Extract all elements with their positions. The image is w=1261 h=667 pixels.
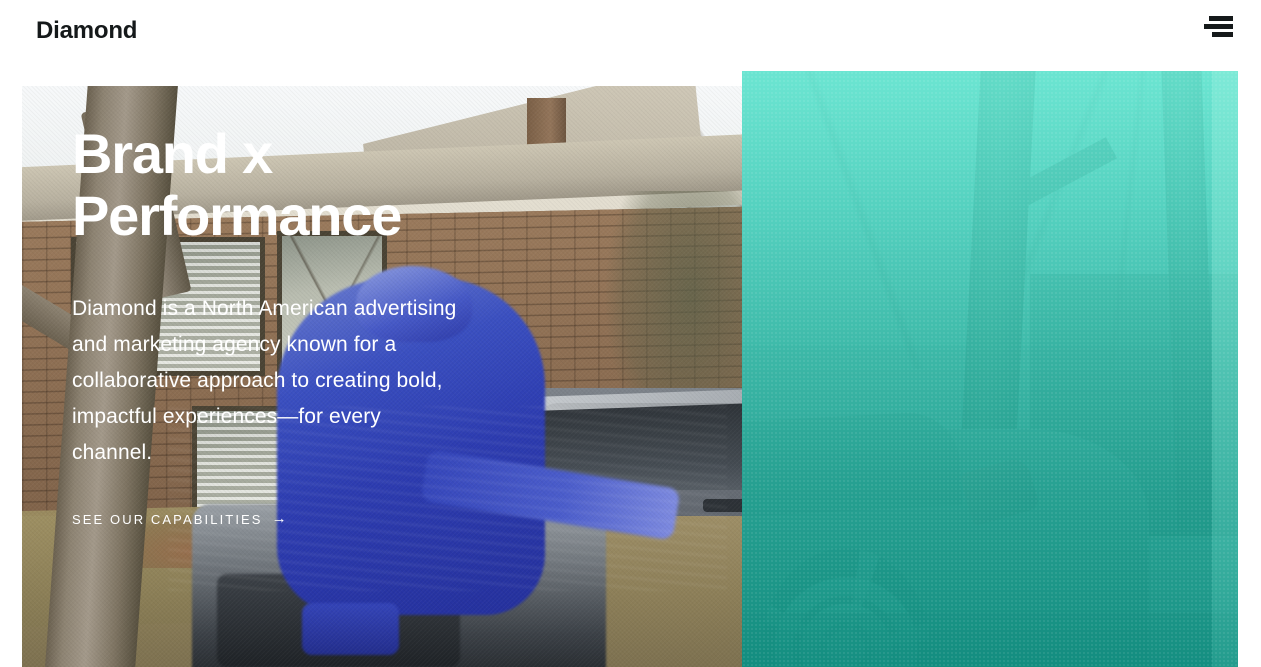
photo-rider-shoe (302, 603, 399, 655)
see-capabilities-label: See our capabilities (72, 512, 263, 527)
arrow-right-icon: → (272, 511, 289, 526)
hamburger-bar-bottom (1212, 32, 1233, 37)
see-capabilities-link[interactable]: See our capabilities → (72, 512, 289, 527)
hero-description: Diamond is a North American advertising … (72, 291, 462, 471)
panel-right-edge-highlight (1212, 71, 1238, 667)
hamburger-bar-middle (1204, 24, 1233, 29)
hero-teal-panel (742, 71, 1238, 667)
hero-panel-content: Brand x Performance Diamond is a North A… (72, 123, 462, 529)
hamburger-bar-top (1209, 16, 1233, 21)
hamburger-menu-icon[interactable] (1204, 14, 1238, 42)
page-title: Brand x Performance (72, 123, 462, 247)
page-root: Diamond (0, 0, 1261, 667)
panel-teal-wash-secondary (742, 71, 1238, 667)
site-header: Diamond (0, 0, 1261, 62)
brand-logo[interactable]: Diamond (36, 16, 137, 46)
